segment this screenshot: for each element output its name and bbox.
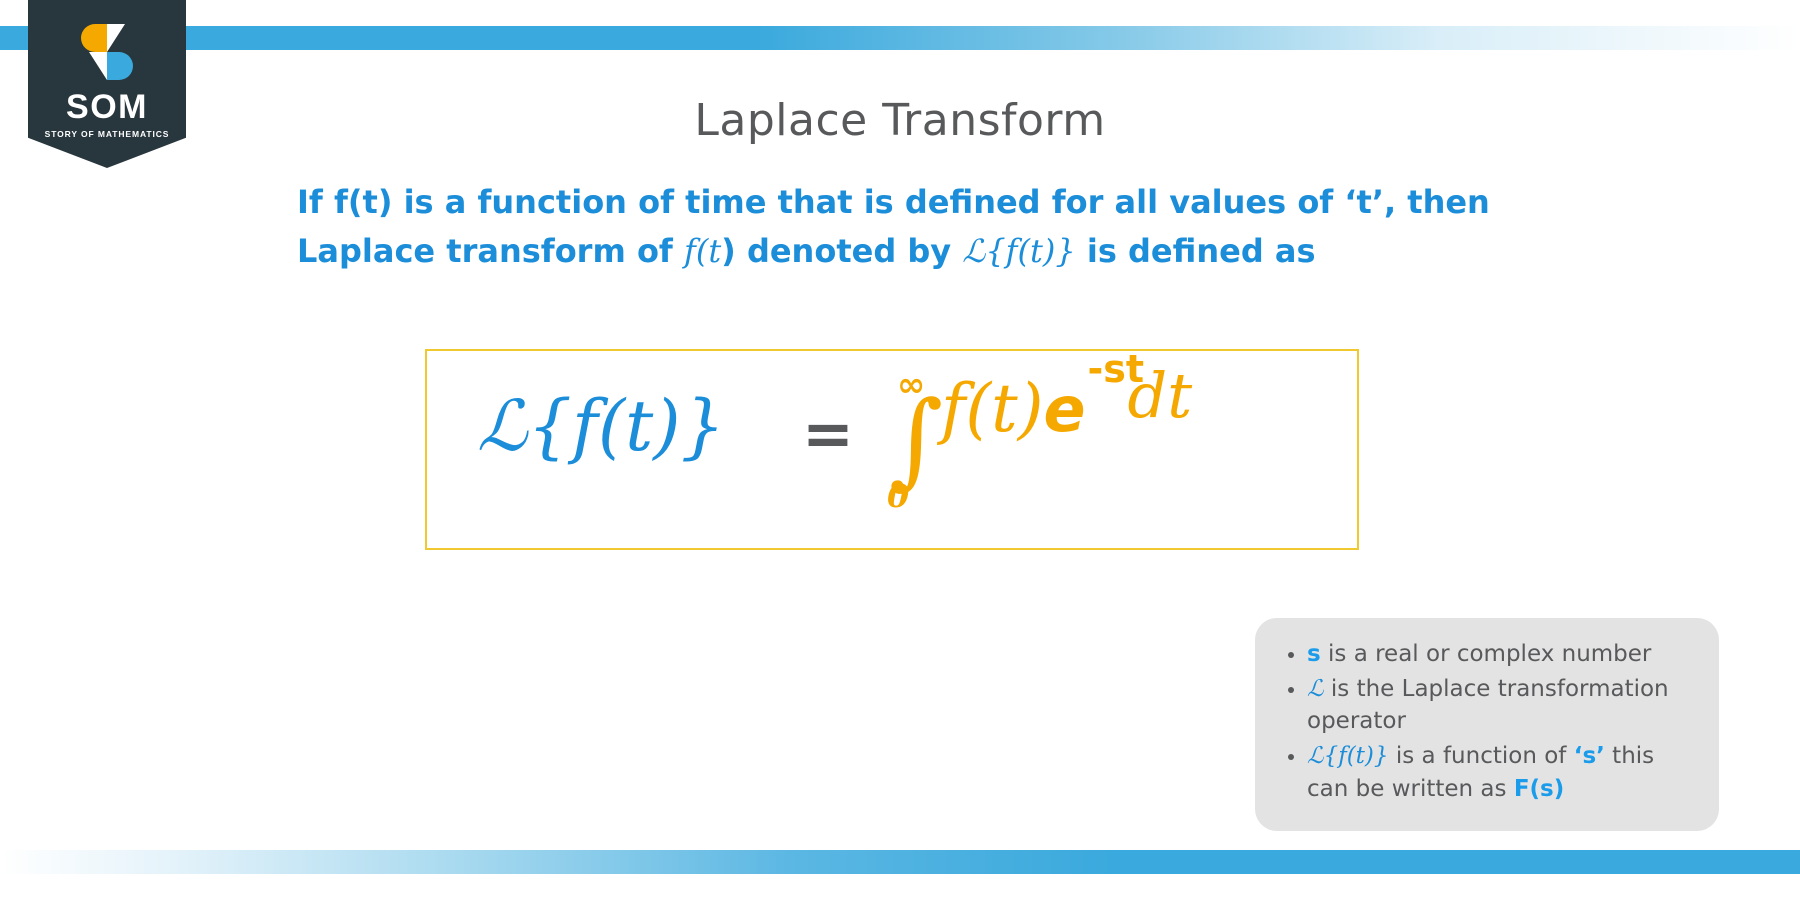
- intro-math-ft: f(t: [684, 232, 721, 270]
- note-text: is the Laplace transformation operator: [1307, 676, 1669, 735]
- page-title: Laplace Transform: [0, 95, 1800, 146]
- notes-box: s is a real or complex number ℒ is the L…: [1255, 618, 1719, 831]
- integral-group: ∞ ∫ 0: [887, 365, 941, 515]
- formula-equals-sign: =: [802, 397, 854, 470]
- note-fs: F(s): [1514, 776, 1564, 802]
- som-logo-icon: [75, 20, 139, 84]
- integral-sign-icon: ∫: [889, 387, 943, 491]
- list-item: ℒ{f(t)} is a function of ‘s’ this can be…: [1307, 740, 1693, 805]
- intro-text-part3: is defined as: [1076, 232, 1316, 270]
- note-text-a: is a function of: [1389, 743, 1574, 769]
- formula-exponential-base: e: [1043, 373, 1085, 446]
- note-script-lft-icon: ℒ{f(t)}: [1307, 743, 1389, 769]
- formula-left-hand-side: ℒ{f(t)}: [477, 385, 725, 467]
- formula-right-hand-side: ∞ ∫ 0 f(t)e -st dt: [887, 365, 1194, 515]
- integral-lower-limit: 0: [887, 477, 909, 515]
- note-highlight-s: s: [1307, 641, 1321, 667]
- formula-lhs-argument: {f(t)}: [527, 385, 725, 467]
- note-text: is a real or complex number: [1321, 641, 1652, 667]
- list-item: ℒ is the Laplace transformation operator: [1307, 673, 1693, 738]
- top-accent-bar: [0, 26, 1800, 50]
- note-script-l-icon: ℒ: [1307, 676, 1324, 702]
- bottom-accent-bar: [0, 850, 1800, 874]
- formula-differential: dt: [1128, 359, 1193, 432]
- list-item: s is a real or complex number: [1307, 638, 1693, 671]
- notes-list: s is a real or complex number ℒ is the L…: [1281, 638, 1693, 805]
- formula-script-l-icon: ℒ: [477, 385, 527, 467]
- intro-script-l-icon: ℒ: [962, 232, 985, 270]
- note-quoted-s: ‘s’: [1574, 743, 1605, 769]
- intro-text-part2: ) denoted by: [721, 232, 962, 270]
- formula-exponent-group: -st dt: [1086, 365, 1194, 431]
- formula-box: ℒ{f(t)} = ∞ ∫ 0 f(t)e -st dt: [425, 349, 1359, 550]
- intro-paragraph: If f(t) is a function of time that is de…: [297, 178, 1527, 275]
- intro-math-lft: {f(t)}: [985, 232, 1075, 270]
- formula-integrand-ft: f(t): [941, 370, 1043, 447]
